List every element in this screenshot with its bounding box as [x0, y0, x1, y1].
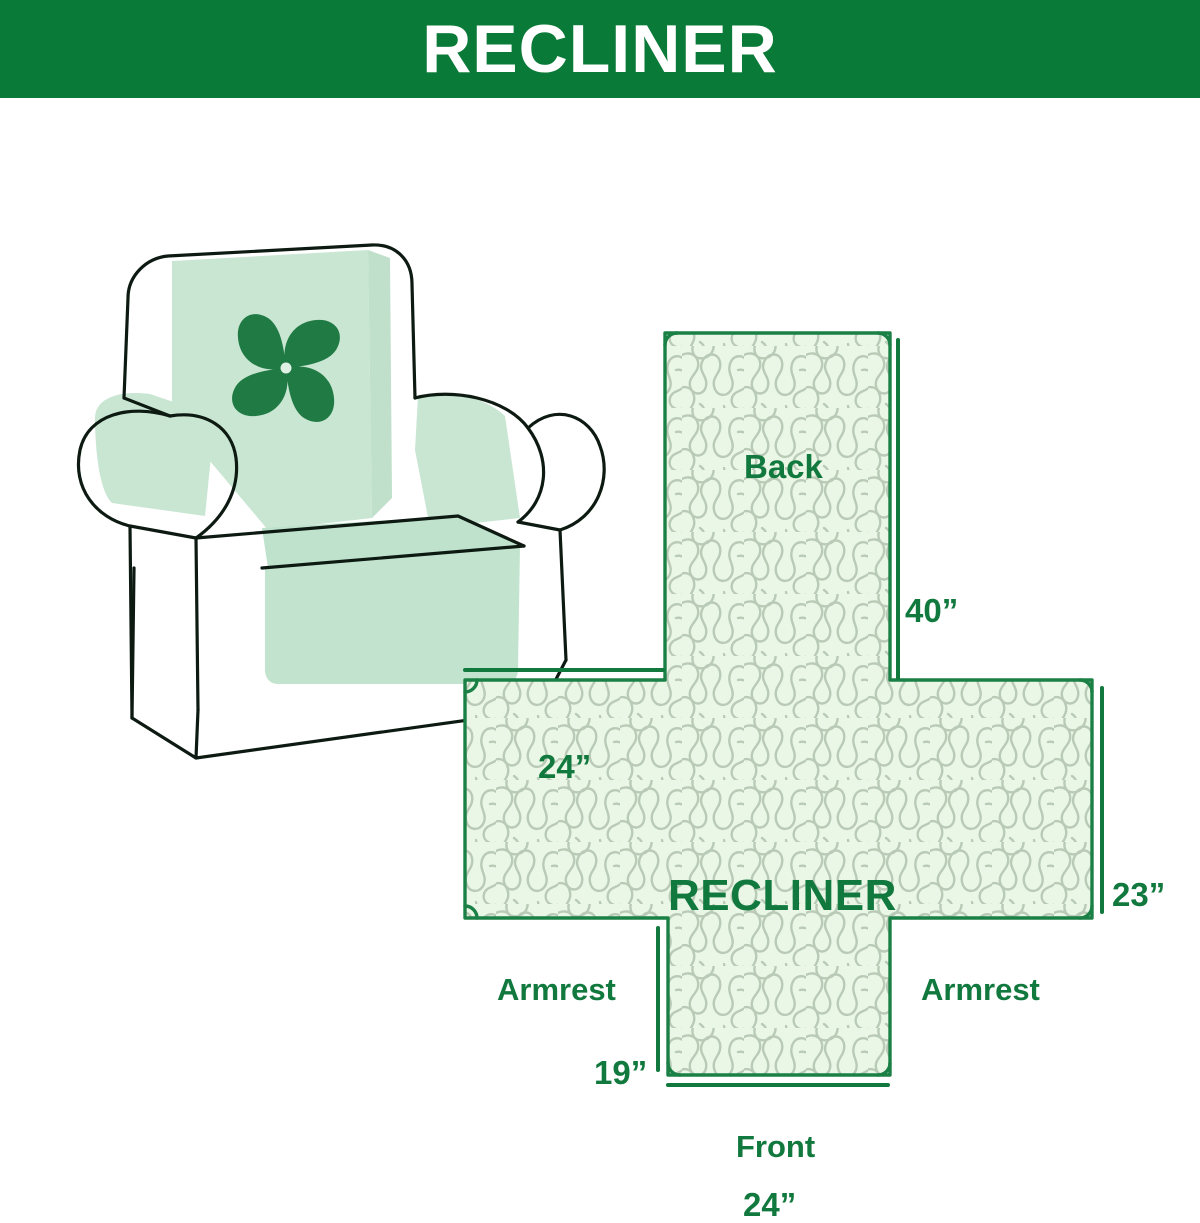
- panel-label-center: RECLINER: [668, 874, 897, 918]
- dimension-label-center-height: 23”: [1112, 878, 1165, 911]
- page-title: RECLINER: [422, 15, 778, 83]
- header-banner: RECLINER: [0, 0, 1200, 98]
- dimension-label-front-height: 19”: [594, 1056, 647, 1089]
- panel-label-armrest-right: Armrest: [921, 974, 1040, 1005]
- dimension-label-front-width: 24”: [743, 1188, 796, 1221]
- dimension-label-back-height: 40”: [905, 594, 958, 627]
- chair-illustration: [0, 98, 1200, 1200]
- panel-label-front: Front: [736, 1131, 815, 1162]
- diagram-stage: Back RECLINER Armrest Armrest Front 40” …: [0, 98, 1200, 1200]
- panel-label-back: Back: [744, 450, 823, 483]
- dimension-label-armrest-width: 24”: [538, 750, 591, 783]
- panel-label-armrest-left: Armrest: [497, 974, 616, 1005]
